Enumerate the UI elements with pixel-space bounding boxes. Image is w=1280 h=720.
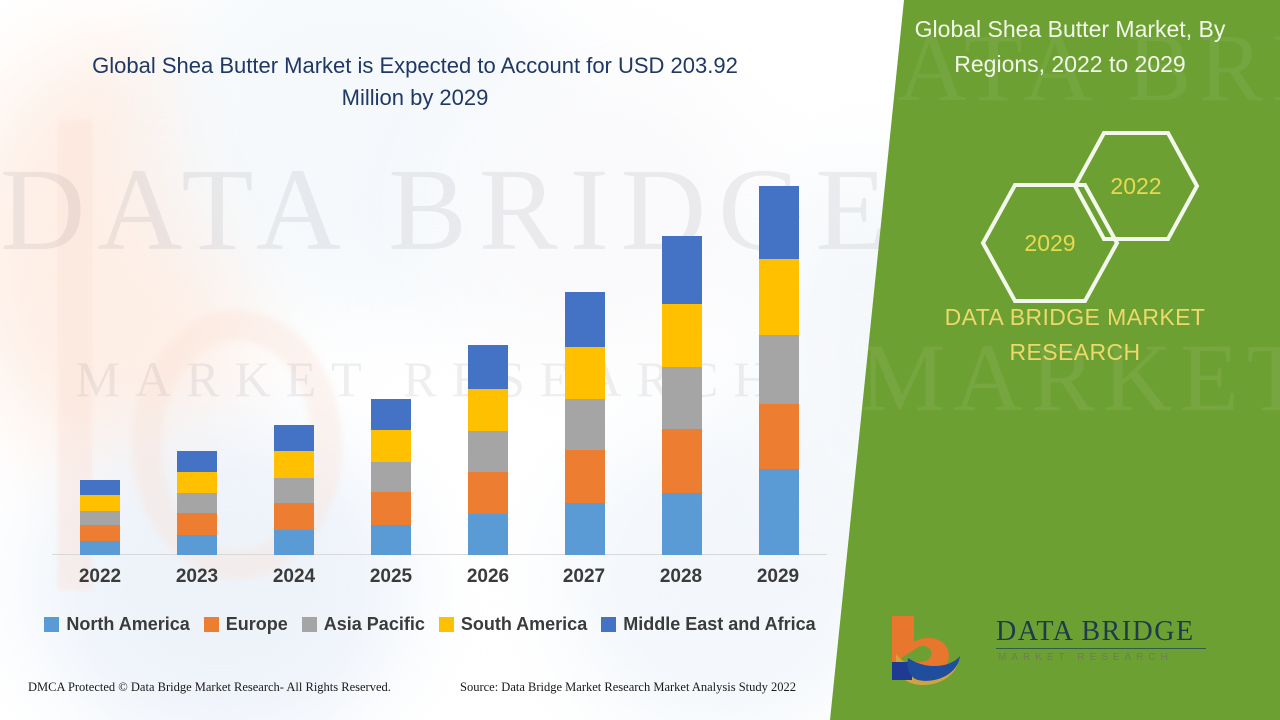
- bar-segment-north-america: [371, 525, 411, 555]
- bar-2023: [177, 451, 217, 555]
- x-label-2029: 2029: [730, 566, 826, 588]
- legend-label: Middle East and Africa: [623, 614, 815, 635]
- legend-swatch-icon: [44, 617, 59, 632]
- chart-panel: Global Shea Butter Market is Expected to…: [0, 0, 880, 720]
- hexagon-group: 2022 2029: [970, 130, 1230, 290]
- brand-panel-title: Global Shea Butter Market, By Regions, 2…: [890, 12, 1250, 81]
- bar-segment-asia-pacific: [662, 367, 702, 429]
- x-axis-labels: 20222023202420252026202720282029: [52, 566, 827, 596]
- brand-panel-company: DATA BRIDGE MARKET RESEARCH: [890, 300, 1260, 369]
- bar-segment-north-america: [662, 493, 702, 555]
- legend-item-middle-east-and-africa[interactable]: Middle East and Africa: [601, 614, 815, 635]
- bar-segment-europe: [565, 450, 605, 503]
- bar-segment-europe: [177, 513, 217, 535]
- x-label-2026: 2026: [440, 566, 536, 588]
- bar-segment-middle-east-and-africa: [80, 480, 120, 495]
- bar-segment-south-america: [371, 430, 411, 462]
- legend-label: North America: [66, 614, 189, 635]
- bar-2028: [662, 236, 702, 555]
- bar-segment-asia-pacific: [759, 335, 799, 404]
- bar-segment-europe: [662, 429, 702, 493]
- bar-segment-south-america: [274, 451, 314, 478]
- bar-segment-middle-east-and-africa: [565, 292, 605, 347]
- bar-segment-europe: [371, 492, 411, 525]
- bar-segment-south-america: [80, 495, 120, 511]
- bar-segment-north-america: [177, 535, 217, 555]
- bar-2024: [274, 425, 314, 555]
- legend-item-europe[interactable]: Europe: [204, 614, 288, 635]
- x-label-2024: 2024: [246, 566, 342, 588]
- bar-segment-middle-east-and-africa: [662, 236, 702, 304]
- chart-title: Global Shea Butter Market is Expected to…: [60, 50, 770, 114]
- legend-label: South America: [461, 614, 587, 635]
- data-bridge-logo-icon: [878, 610, 988, 686]
- bar-segment-middle-east-and-africa: [759, 186, 799, 259]
- x-label-2023: 2023: [149, 566, 245, 588]
- bar-segment-europe: [274, 503, 314, 530]
- bar-segment-south-america: [468, 389, 508, 431]
- bar-segment-middle-east-and-africa: [177, 451, 217, 472]
- company-logo: DATA BRIDGE MARKET RESEARCH: [878, 610, 1218, 690]
- logo-tagline: MARKET RESEARCH: [998, 652, 1173, 663]
- bar-2027: [565, 292, 605, 555]
- brand-panel: DATA BRIDGE MARKET RESEARCH Global Shea …: [830, 0, 1280, 720]
- x-label-2025: 2025: [343, 566, 439, 588]
- x-label-2028: 2028: [633, 566, 729, 588]
- bar-segment-north-america: [759, 469, 799, 555]
- bar-segment-asia-pacific: [468, 431, 508, 472]
- logo-name: DATA BRIDGE: [996, 616, 1195, 648]
- bar-2022: [80, 480, 120, 555]
- legend-label: Asia Pacific: [324, 614, 425, 635]
- infographic-page: DATA BRIDGE MARKET RESEARCH Global Shea …: [0, 0, 1280, 720]
- bar-2029: [759, 186, 799, 555]
- bar-segment-europe: [759, 404, 799, 469]
- legend-item-asia-pacific[interactable]: Asia Pacific: [302, 614, 425, 635]
- bar-2025: [371, 399, 411, 555]
- x-label-2027: 2027: [536, 566, 632, 588]
- bar-segment-south-america: [565, 347, 605, 399]
- bar-segment-middle-east-and-africa: [371, 399, 411, 430]
- bar-2026: [468, 345, 508, 555]
- bar-segment-south-america: [177, 472, 217, 493]
- legend-swatch-icon: [439, 617, 454, 632]
- bar-segment-middle-east-and-africa: [274, 425, 314, 451]
- hexagon-2029: 2029: [980, 182, 1120, 304]
- bar-segment-south-america: [662, 304, 702, 367]
- bar-segment-north-america: [468, 514, 508, 555]
- legend-swatch-icon: [601, 617, 616, 632]
- bar-segment-asia-pacific: [371, 462, 411, 492]
- bar-segment-asia-pacific: [80, 511, 120, 525]
- bar-segment-asia-pacific: [177, 493, 217, 513]
- legend-label: Europe: [226, 614, 288, 635]
- bar-segment-north-america: [565, 503, 605, 555]
- legend-swatch-icon: [302, 617, 317, 632]
- logo-underline: [996, 648, 1206, 649]
- bar-segment-north-america: [274, 530, 314, 555]
- legend-item-south-america[interactable]: South America: [439, 614, 587, 635]
- bar-segment-north-america: [80, 541, 120, 555]
- footer-copyright: DMCA Protected © Data Bridge Market Rese…: [28, 680, 391, 695]
- x-label-2022: 2022: [52, 566, 148, 588]
- legend-item-north-america[interactable]: North America: [44, 614, 189, 635]
- hexagon-2029-label: 2029: [1024, 230, 1075, 257]
- chart-legend: North AmericaEuropeAsia PacificSouth Ame…: [0, 614, 860, 635]
- bar-segment-europe: [80, 525, 120, 541]
- bar-segment-asia-pacific: [565, 399, 605, 450]
- bar-segment-middle-east-and-africa: [468, 345, 508, 389]
- footer: DMCA Protected © Data Bridge Market Rese…: [0, 680, 860, 704]
- legend-swatch-icon: [204, 617, 219, 632]
- stacked-bar-group: [52, 150, 827, 555]
- bar-segment-south-america: [759, 259, 799, 335]
- bar-segment-asia-pacific: [274, 478, 314, 503]
- bar-segment-europe: [468, 472, 508, 514]
- footer-source: Source: Data Bridge Market Research Mark…: [460, 680, 796, 695]
